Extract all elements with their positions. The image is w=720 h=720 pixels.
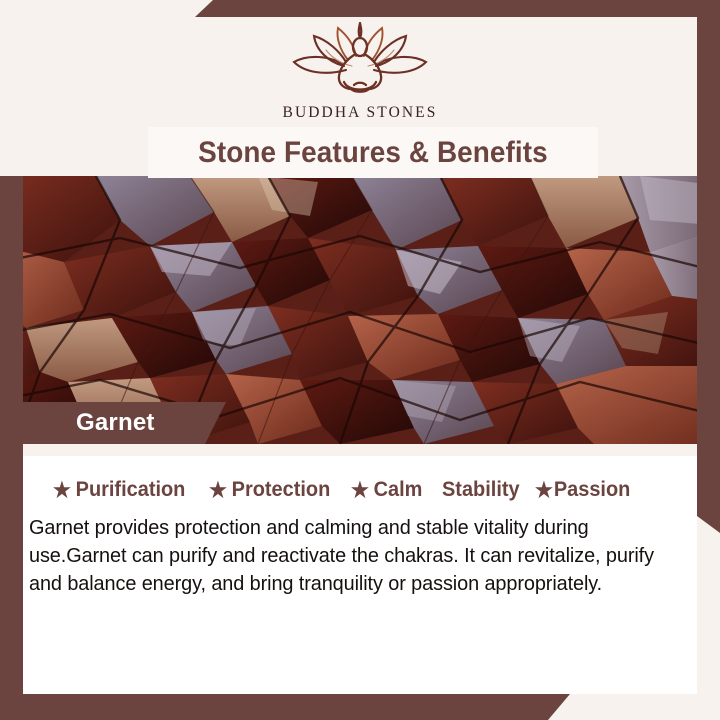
benefit-label: Calm [374, 478, 423, 502]
benefit-protection: ★ Protection [209, 478, 330, 502]
title-banner: Stone Features & Benefits [148, 127, 598, 178]
star-icon: ★ [209, 480, 227, 501]
benefit-label: Protection [232, 478, 331, 502]
frame-bottom-accent [0, 694, 570, 720]
frame-top-accent [195, 0, 720, 17]
star-icon: ★ [53, 480, 71, 501]
benefit-label: Passion [554, 478, 631, 502]
frame-right-accent [697, 0, 720, 533]
stone-name: Garnet [76, 409, 155, 437]
frame-left-accent [0, 176, 23, 720]
content-panel: ★ Purification ★ Protection ★ Calm Stabi… [23, 456, 697, 694]
benefit-passion: ★ Passion [535, 478, 630, 502]
benefit-stability: Stability [442, 478, 520, 502]
brand-logo: BUDDHA STONES [0, 22, 720, 122]
stone-name-badge: Garnet [23, 402, 226, 444]
lotus-meditation-icon [284, 22, 436, 100]
star-icon: ★ [535, 480, 553, 501]
stone-description: Garnet provides protection and calming a… [29, 514, 660, 598]
benefit-calm: ★ Calm [351, 478, 422, 502]
page-title: Stone Features & Benefits [198, 136, 548, 170]
benefit-label: Stability [442, 478, 520, 502]
star-icon: ★ [351, 480, 369, 501]
brand-name: BUDDHA STONES [283, 104, 438, 122]
benefit-purification: ★ Purification [53, 478, 185, 502]
section-divider [23, 444, 697, 456]
benefit-label: Purification [76, 478, 186, 502]
benefits-list: ★ Purification ★ Protection ★ Calm Stabi… [53, 478, 673, 502]
